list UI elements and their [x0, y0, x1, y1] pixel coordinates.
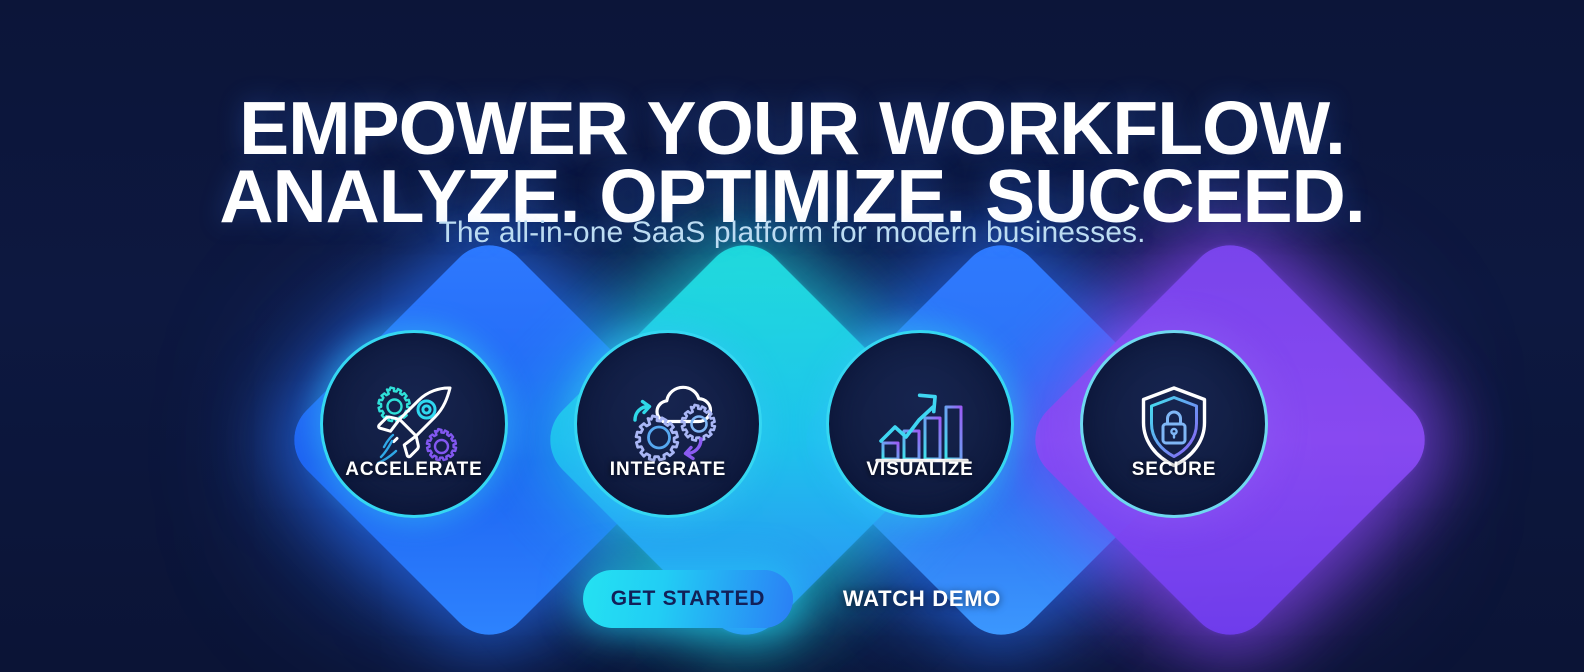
feature-card-secure[interactable]: SECURE — [1080, 330, 1268, 518]
feature-circle: INTEGRATE — [574, 330, 762, 518]
feature-label: SECURE — [1083, 459, 1265, 481]
feature-card-integrate[interactable]: INTEGRATE — [574, 330, 762, 518]
shield-lock-icon — [1123, 385, 1225, 469]
feature-circle: SECURE — [1080, 330, 1268, 518]
feature-card-visualize[interactable]: VISUALIZE — [826, 330, 1014, 518]
hero-banner: EMPOWER YOUR WORKFLOW. ANALYZE. OPTIMIZE… — [0, 0, 1584, 672]
feature-label: VISUALIZE — [829, 459, 1011, 481]
feature-circle: ACCELERATE — [320, 330, 508, 518]
feature-card-accelerate[interactable]: ACCELERATE — [320, 330, 508, 518]
cloud-gears-sync-icon — [617, 385, 719, 469]
feature-label: ACCELERATE — [323, 459, 505, 481]
feature-circle: VISUALIZE — [826, 330, 1014, 518]
get-started-button[interactable]: GET STARTED — [583, 570, 793, 628]
watch-demo-button[interactable]: WATCH DEMO — [843, 586, 1001, 612]
rocket-gears-icon — [363, 385, 465, 469]
bar-chart-growth-arrow-icon — [869, 385, 971, 469]
feature-label: INTEGRATE — [577, 459, 759, 481]
cta-group: GET STARTED WATCH DEMO — [0, 570, 1584, 628]
